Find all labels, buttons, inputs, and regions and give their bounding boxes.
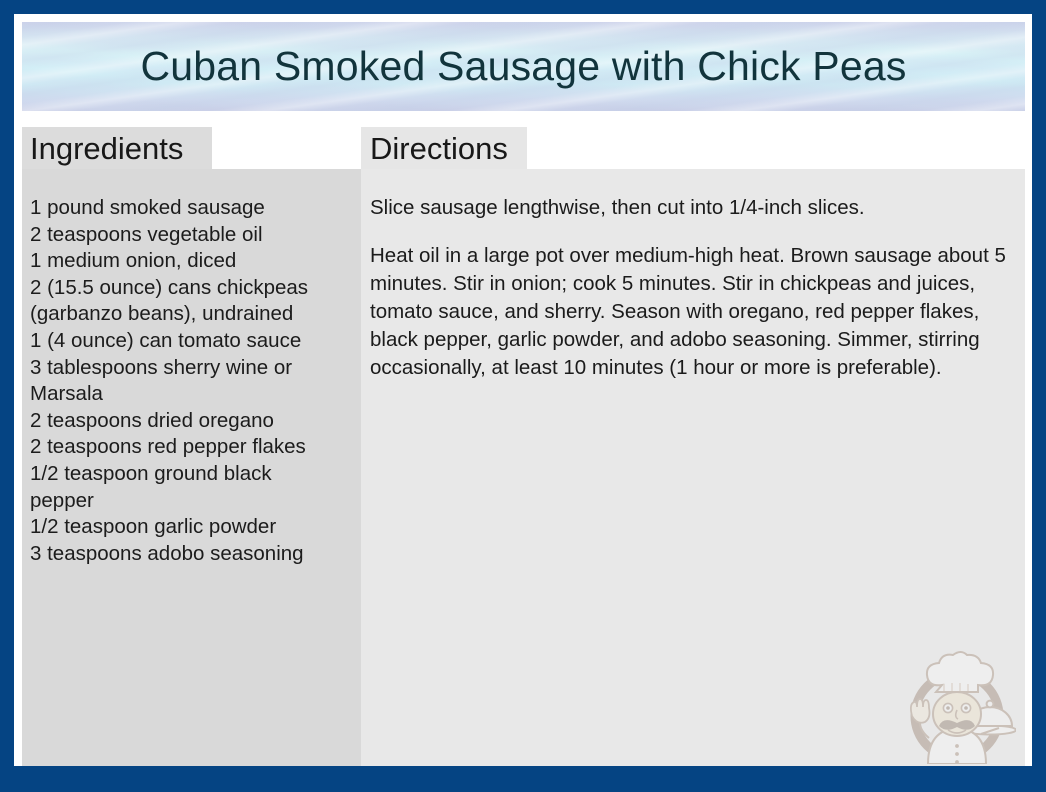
recipe-card: Cuban Smoked Sausage with Chick Peas Ing… (0, 0, 1046, 792)
ingredients-heading: Ingredients (30, 131, 183, 167)
recipe-page: Cuban Smoked Sausage with Chick Peas Ing… (14, 14, 1032, 766)
directions-step-2: Heat oil in a large pot over medium-high… (370, 242, 1020, 382)
ingredients-list: 1 pound smoked sausage 2 teaspoons veget… (30, 195, 355, 567)
page-title: Cuban Smoked Sausage with Chick Peas (140, 43, 906, 90)
directions-step-1: Slice sausage lengthwise, then cut into … (370, 194, 1020, 222)
directions-heading: Directions (370, 131, 508, 167)
title-banner: Cuban Smoked Sausage with Chick Peas (22, 22, 1025, 111)
